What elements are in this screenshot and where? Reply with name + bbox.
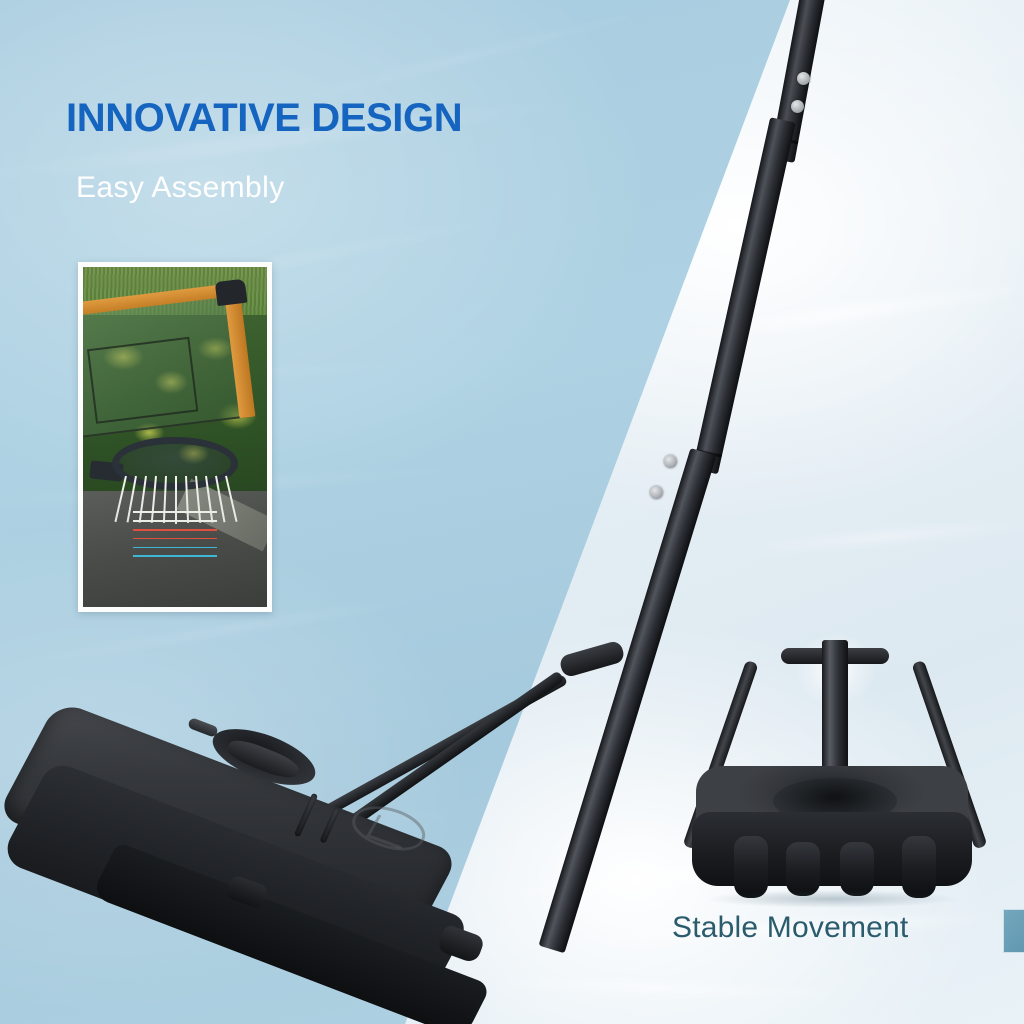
product-feature-image: INNOVATIVE DESIGN Easy Assembly Stable M… <box>0 0 1024 1024</box>
middle-pole-segment <box>692 117 795 474</box>
wheel-4 <box>902 836 936 898</box>
pole-bolt-icon <box>650 486 663 499</box>
pole-bolt-icon <box>797 72 810 85</box>
page-title: INNOVATIVE DESIGN <box>66 98 462 138</box>
ground-shadow <box>704 890 960 908</box>
wheel-1 <box>734 836 768 898</box>
secondary-product-base-front-view <box>690 640 980 920</box>
strut-pole-joint-bracket <box>558 640 626 679</box>
water-fill-cap <box>187 717 219 738</box>
right-edge-color-tab <box>1003 909 1024 953</box>
wheel-3 <box>840 842 874 896</box>
pole-bolt-icon <box>791 100 804 113</box>
wheel-2 <box>786 842 820 896</box>
page-subtitle: Easy Assembly <box>76 173 285 203</box>
caption-stable-movement: Stable Movement <box>672 913 908 943</box>
pole-bolt-icon <box>664 455 677 468</box>
